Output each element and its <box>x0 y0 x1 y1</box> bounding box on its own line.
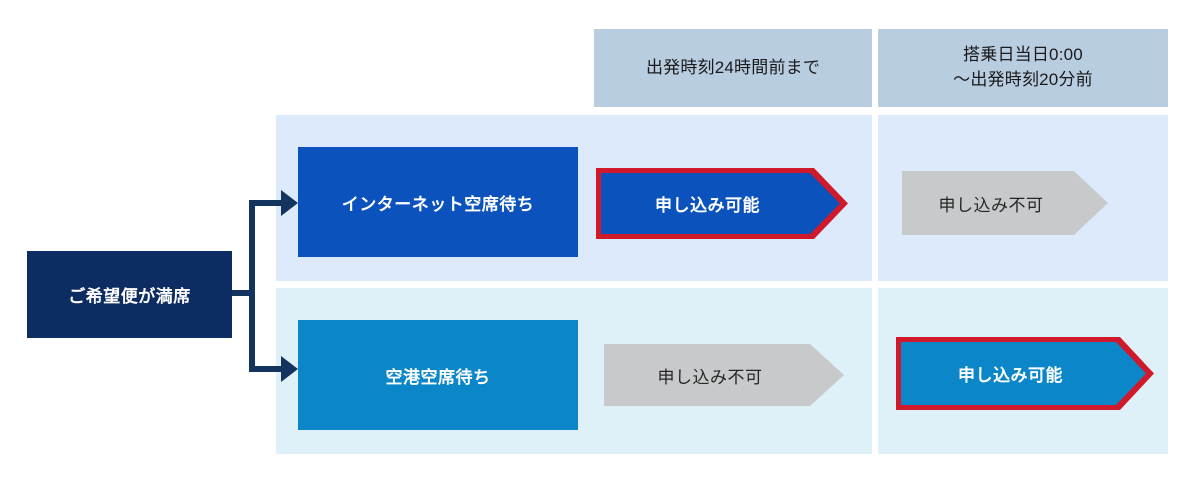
status-badge-airport-24h-unavailable: 申し込み不可 <box>604 344 844 406</box>
arrow-head-internet-icon <box>281 190 298 216</box>
column-header-boarding-day: 搭乗日当日0:00 ～出発時刻20分前 <box>878 29 1168 107</box>
flowchart-canvas: 出発時刻24時間前まで 搭乗日当日0:00 ～出発時刻20分前 ご希望便が満席 … <box>0 0 1200 480</box>
status-badge-internet-boardingday-unavailable: 申し込み不可 <box>902 171 1108 235</box>
column-header-departure-24h: 出発時刻24時間前まで <box>594 29 872 107</box>
connector-branch-internet <box>249 200 283 206</box>
status-badge-airport-boardingday-available: 申し込み可能 <box>896 337 1154 410</box>
arrow-head-airport-icon <box>281 356 298 382</box>
source-node-seat-full: ご希望便が満席 <box>27 251 232 338</box>
status-badge-label: 申し込み可能 <box>601 173 840 234</box>
status-badge-label: 申し込み可能 <box>901 342 1146 405</box>
category-box-airport-standby: 空港空席待ち <box>298 320 578 430</box>
status-badge-internet-24h-available: 申し込み可能 <box>596 168 848 239</box>
connector-vertical-trunk <box>249 200 255 372</box>
category-box-internet-standby: インターネット空席待ち <box>298 147 578 257</box>
connector-branch-airport <box>249 366 283 372</box>
